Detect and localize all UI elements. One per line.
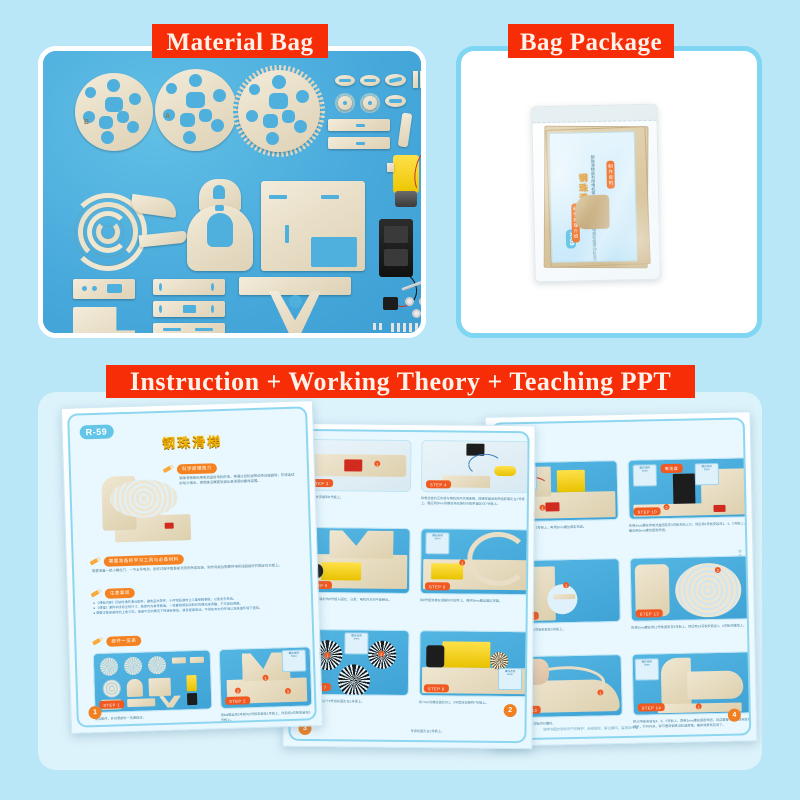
step-hint-tag-10: 电池盒	[661, 464, 683, 473]
pencil-icon-notes	[91, 589, 103, 598]
step-tag-10: STEP 10	[634, 507, 662, 516]
step-photo-6: 螺丝选用3mm 1 STEP 6	[420, 528, 530, 595]
step-photo-8: 螺丝选用3mm STEP 8	[419, 630, 530, 697]
page-number-2: 2	[504, 704, 517, 717]
cross-strip-1	[153, 279, 225, 295]
manual-sheet: 钢珠滑梯 R-59 制作目的 科学原理介绍 钢珠滑梯是利用电机带动齿轮组转动，再…	[549, 131, 638, 263]
wheel-disc-a-part: A	[155, 69, 237, 151]
section-notes-head: 注意事项	[105, 588, 135, 599]
y-frame-part	[239, 277, 351, 338]
arch-bracket-part	[187, 179, 253, 271]
bag-package-label: Bag Package	[508, 24, 674, 58]
step-photo-2: 螺丝选用3mm 1 2 3 STEP 2	[219, 646, 313, 709]
copyright-note: 说明书图文受知识产权保护：未经授权，禁止翻印，盗用及传播！	[543, 725, 641, 732]
step-tag-4: STEP 4	[426, 480, 451, 488]
step-photo-10: 螺丝选用3mm 螺丝选用3mm 电池盒 2 STEP 10	[628, 457, 749, 519]
step-caption-6: 将8号板安装在组装好的部件上，再用3mm螺丝固定牢固。	[420, 598, 528, 604]
step-caption-3: 将船型开关安装到6号板上。	[303, 495, 409, 501]
step-tag-2: STEP 2	[225, 696, 250, 705]
section-parts-head: 部件一览表	[106, 636, 141, 647]
step-caption-2: 用M3螺丝将2号板与3号板安装在1号板上，然后将4号板安装在5号板上。	[221, 710, 313, 722]
step-photo-12: 2 STEP 12	[630, 555, 751, 621]
bag-package-panel: 钢珠滑梯 R-59 制作目的 科学原理介绍 钢珠滑梯是利用电机带动齿轮组转动，再…	[456, 46, 762, 338]
material-bag-panel: B A	[38, 46, 426, 338]
step-tag-1: STEP 1	[99, 700, 124, 709]
material-bag-label: Material Bag	[152, 24, 328, 58]
screws-and-nuts-part	[373, 323, 426, 338]
step-photo-3: 1 STEP 3	[303, 439, 412, 492]
middle-footer-note: 号齿轮固定在2号板上。	[410, 729, 520, 735]
wheel-disc-b-part: B	[75, 73, 153, 151]
instruction-panel: 使用说明 螺丝选用3mm 1 STEP 9 将5号板安装在1、4、5号板上，再用…	[38, 392, 762, 770]
parts-inventory-photo: STEP 1	[93, 649, 213, 713]
pencil-icon-tools	[89, 557, 101, 566]
instruction-sheet-left: R-59 钢珠滑梯 科学原理简介 钢珠滑梯是利用电池盒给电机供电，再通过齿轮组带…	[61, 400, 323, 734]
step-photo-14: 螺丝选用3mm 1 STEP 14	[632, 651, 752, 715]
product-detail-page: B A	[0, 0, 800, 800]
step-caption-12: 先将3mm螺丝将12号板固定在3号板上，然后用13号板安装在1、4号板的缝隙上。	[631, 623, 749, 630]
base-plate-part	[261, 181, 365, 271]
rocker-switch-part	[383, 297, 398, 310]
section-tools-head: 需要准备的学习工具与必备材料	[104, 554, 184, 567]
large-ring-gear-part	[233, 65, 325, 157]
model-title: 钢珠滑梯	[162, 431, 223, 452]
cross-strip-2	[153, 301, 225, 317]
theory-paragraph: 钢珠滑梯是利用电池盒给电机供电，再通过齿轮组带动传动轴旋转，形成连续的动力输出，…	[179, 473, 295, 487]
step-photo-4: STEP 4	[421, 440, 530, 493]
step-caption-4: 将电池盒的正负极与电机及开关相连接，焊接牢固后用热熔胶固定在7号板上，最后用3m…	[421, 496, 529, 507]
hero-model-photo	[95, 462, 204, 547]
poly-bag: 钢珠滑梯 R-59 制作目的 科学原理介绍 钢珠滑梯是利用电机带动齿轮组转动，再…	[531, 104, 661, 283]
step-caption-1: 清点配件，并对照部件一览表核对。	[95, 713, 211, 721]
model-code-badge: R-59	[79, 424, 113, 439]
cross-strip-3	[153, 323, 225, 337]
section-theory-head: 科学原理简介	[177, 463, 217, 474]
step-tag-14: STEP 14	[638, 703, 666, 712]
bag-seal	[532, 105, 656, 124]
step-caption-10: 先用3mm螺丝将电池盒固定在3号板右侧上方，然后将6号板安装在1、4、5号板上，…	[629, 521, 747, 533]
pencil-icon-parts	[92, 637, 104, 646]
side-strip-part	[73, 279, 135, 299]
instruction-label: Instruction + Working Theory + Teaching …	[106, 365, 695, 398]
step-tag-12: STEP 12	[636, 609, 664, 618]
step-tag-6: STEP 6	[425, 582, 450, 590]
step-tag-8: STEP 8	[424, 684, 449, 692]
